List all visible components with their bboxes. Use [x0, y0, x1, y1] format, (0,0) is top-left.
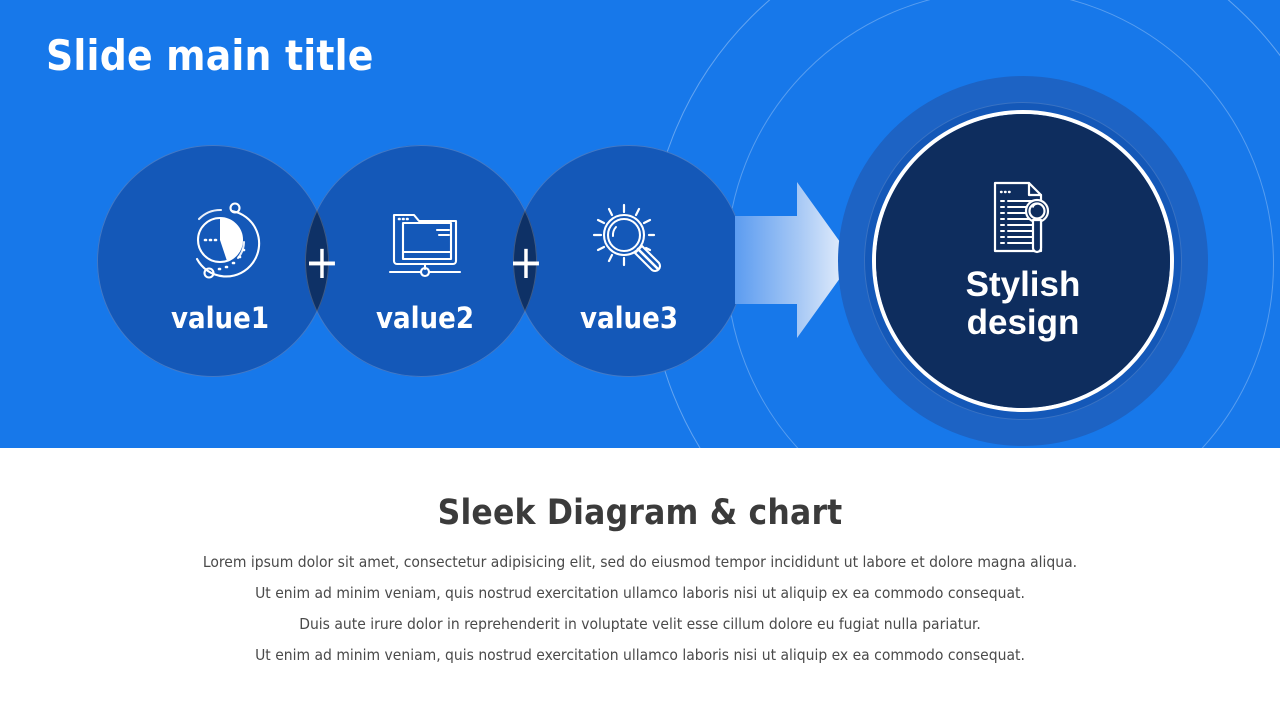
result-core-disc: Stylish design [876, 114, 1170, 408]
browser-window-network-icon [382, 197, 468, 283]
page-title: Slide main title [46, 33, 374, 79]
venn-label-value3: value3 [529, 301, 729, 335]
slide-root: Slide main title [0, 0, 1280, 720]
section-heading: Sleek Diagram & chart [0, 493, 1280, 533]
result-circle: Stylish design [838, 76, 1208, 446]
venn-diagram: + + value1 value2 value3 [97, 145, 745, 377]
section-body: Lorem ipsum dolor sit amet, consectetur … [140, 547, 1140, 671]
result-label: Stylish design [966, 266, 1081, 342]
venn-label-value1: value1 [120, 301, 320, 335]
venn-label-value2: value2 [325, 301, 525, 335]
body-paragraph-2: Ut enim ad minim veniam, quis nostrud ex… [140, 578, 1140, 609]
document-search-icon [990, 180, 1056, 254]
body-paragraph-3: Duis aute irure dolor in reprehenderit i… [140, 609, 1140, 640]
plus-operator-1: + [302, 239, 342, 285]
lower-section: Sleek Diagram & chart Lorem ipsum dolor … [0, 448, 1280, 720]
magnifier-rays-icon [586, 197, 672, 283]
body-paragraph-4: Ut enim ad minim veniam, quis nostrud ex… [140, 640, 1140, 671]
pie-chart-analytics-icon [177, 197, 263, 283]
body-paragraph-1: Lorem ipsum dolor sit amet, consectetur … [140, 547, 1140, 578]
plus-operator-2: + [506, 239, 546, 285]
hero-section: Slide main title [0, 0, 1280, 448]
right-arrow-icon [735, 182, 853, 338]
